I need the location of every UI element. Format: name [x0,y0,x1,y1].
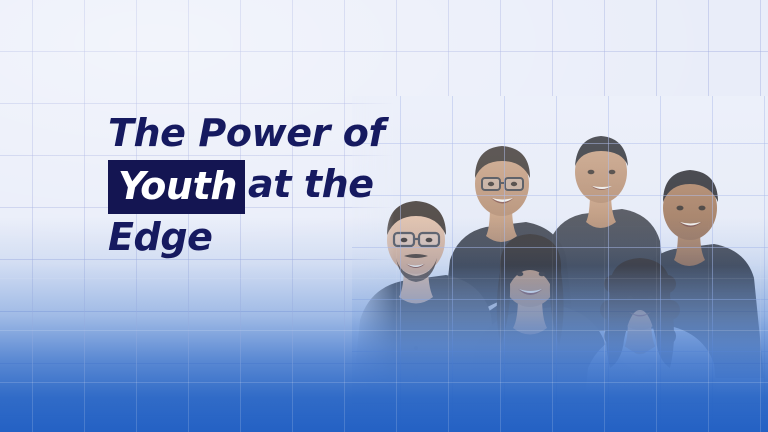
headline-line-2: Youthat the [108,158,528,212]
headline-line-2-tail: at the [246,162,374,206]
page-title: The Power of Youthat the Edge [108,110,528,260]
headline-line-3-text: Edge [108,215,213,259]
headline-line-3: Edge [108,214,528,260]
promo-banner: The Power of Youthat the Edge [0,0,768,432]
headline-line-1: The Power of [108,110,528,156]
headline-line-1-text: The Power of [108,111,385,155]
headline-highlight-youth: Youth [108,160,245,214]
